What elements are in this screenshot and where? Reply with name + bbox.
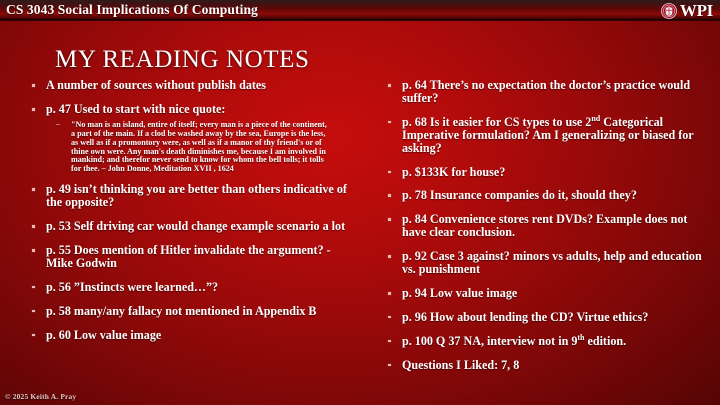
quote-subnote: "No man is an island, entire of itself; … bbox=[22, 121, 327, 174]
bullet-item: p. 60 Low value image bbox=[22, 329, 352, 342]
bullet-item: p. 47 Used to start with nice quote: bbox=[22, 103, 352, 116]
bullet-text-pre: Questions I Liked: 7, 8 bbox=[402, 358, 519, 372]
bullet-item: p. 55 Does mention of Hitler invalidate … bbox=[22, 244, 352, 270]
bullet-text-pre: p. 68 Is it easier for CS types to use 2 bbox=[402, 115, 591, 129]
wpi-seal-icon bbox=[661, 3, 677, 19]
bullet-item: p. 64 There’s no expectation the doctor’… bbox=[378, 79, 708, 105]
bullet-text-pre: p. 96 How about lending the CD? Virtue e… bbox=[402, 310, 648, 324]
right-content-column: p. 64 There’s no expectation the doctor’… bbox=[378, 79, 708, 383]
course-title: CS 3043 Social Implications Of Computing bbox=[0, 2, 258, 18]
bullet-text-post: edition. bbox=[584, 334, 626, 348]
bullet-text-pre: p. 64 There’s no expectation the doctor’… bbox=[402, 78, 690, 105]
bullet-item: p. 96 How about lending the CD? Virtue e… bbox=[378, 311, 708, 324]
bullet-item: Questions I Liked: 7, 8 bbox=[378, 359, 708, 372]
bullet-text-pre: p. 84 Convenience stores rent DVDs? Exam… bbox=[402, 212, 687, 239]
bullet-text-pre: p. 92 Case 3 against? minors vs adults, … bbox=[402, 249, 702, 276]
bullet-item: A number of sources without publish date… bbox=[22, 79, 352, 92]
bullet-item: p. 78 Insurance companies do it, should … bbox=[378, 189, 708, 202]
bullet-item: p. 94 Low value image bbox=[378, 287, 708, 300]
slide-heading: MY READING NOTES bbox=[55, 46, 310, 74]
bullet-item: p. 49 isn’t thinking you are better than… bbox=[22, 183, 352, 209]
bullet-text-pre: p. 100 Q 37 NA, interview not in 9 bbox=[402, 334, 577, 348]
bullet-item: p. 58 many/any fallacy not mentioned in … bbox=[22, 305, 352, 318]
bullet-item: p. 84 Convenience stores rent DVDs? Exam… bbox=[378, 213, 708, 239]
slide-title-bar: CS 3043 Social Implications Of Computing… bbox=[0, 0, 720, 21]
bullet-text-pre: p. $133K for house? bbox=[402, 165, 505, 179]
bullet-item: p. 56 ”Instincts were learned…”? bbox=[22, 281, 352, 294]
bullet-text-pre: p. 94 Low value image bbox=[402, 286, 517, 300]
bullet-text-pre: p. 78 Insurance companies do it, should … bbox=[402, 188, 637, 202]
bullet-item: p. 100 Q 37 NA, interview not in 9th edi… bbox=[378, 335, 708, 348]
wpi-logo: WPI bbox=[661, 0, 713, 21]
bullet-item: p. 68 Is it easier for CS types to use 2… bbox=[378, 116, 708, 155]
bullet-item: p. 92 Case 3 against? minors vs adults, … bbox=[378, 250, 708, 276]
left-content-column: A number of sources without publish date… bbox=[22, 79, 352, 353]
wpi-wordmark: WPI bbox=[680, 2, 713, 19]
bullet-item: p. 53 Self driving car would change exam… bbox=[22, 220, 352, 233]
bullet-item: p. $133K for house? bbox=[378, 166, 708, 179]
presentation-slide: CS 3043 Social Implications Of Computing… bbox=[0, 0, 720, 405]
bullet-superscript: nd bbox=[591, 114, 600, 123]
copyright-footer: © 2025 Keith A. Pray bbox=[5, 392, 76, 401]
